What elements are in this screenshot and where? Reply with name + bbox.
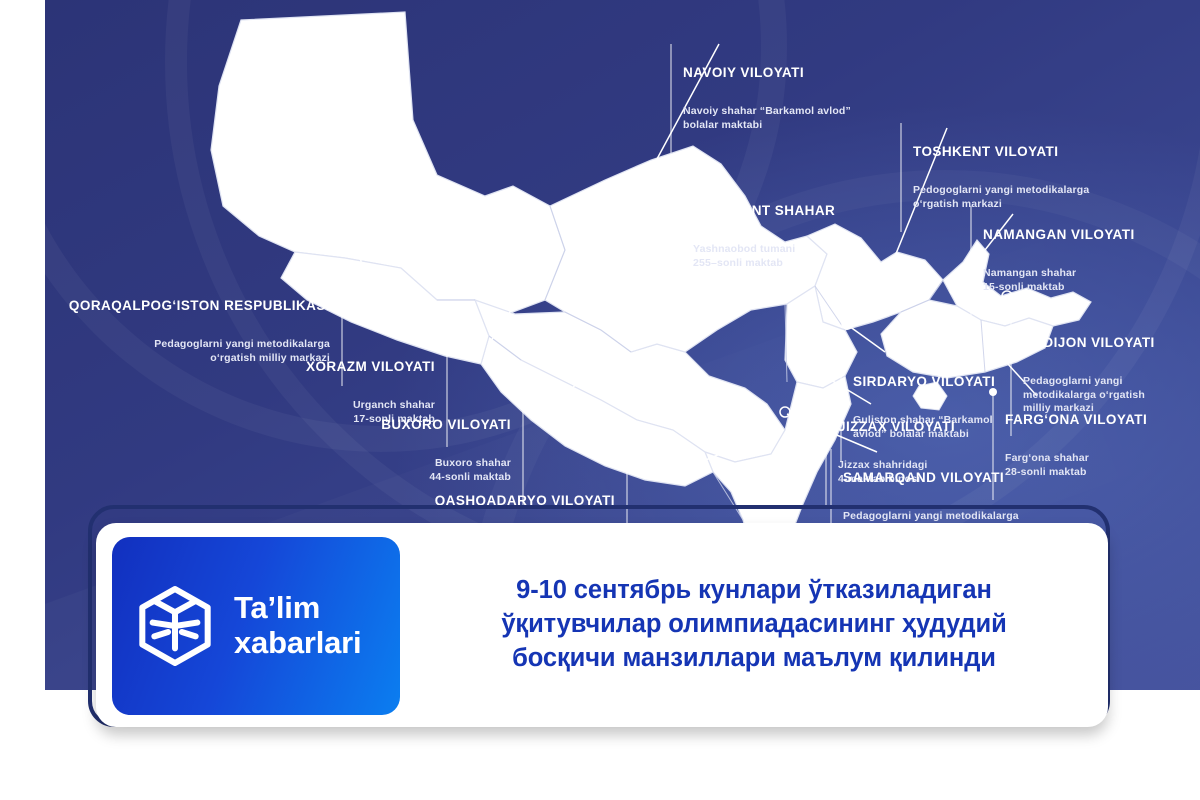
callout-subtitle: Navoiy shahar “Barkamol avlod” bolalar m… (683, 105, 851, 132)
callout-title: SAMARQAND VILOYATI (843, 469, 1019, 486)
callout-namangan[interactable]: NAMANGAN VILOYATI Namangan shahar 15-son… (970, 206, 1135, 315)
callout-toshkent-shahar[interactable]: TOSHKENT SHAHAR Yashnaobod tumani 255–so… (680, 182, 835, 291)
callout-subtitle: Namangan shahar 15-sonli maktab (983, 267, 1135, 294)
callout-title: XORAZM VILOYATI (290, 358, 435, 375)
cube-logo-icon (132, 583, 218, 669)
talim-xabarlari-logo[interactable]: Ta’lim xabarlari (112, 537, 400, 715)
callout-title: TOSHKENT SHAHAR (693, 202, 835, 219)
callout-title: ANDIJON VILOYATI (1023, 334, 1155, 351)
callout-title: NAMANGAN VILOYATI (983, 226, 1135, 243)
callout-title: NAVOIY VILOYATI (683, 64, 851, 81)
callout-title: QORAQALPOG‘ISTON RESPUBLIKASI (55, 297, 330, 314)
callout-title: BUXORO VILOYATI (363, 416, 511, 433)
callout-subtitle: Yashnaobod tumani 255–sonli maktab (693, 243, 835, 270)
poster-root: NAVOIY VILOYATI Navoiy shahar “Barkamol … (0, 0, 1200, 800)
callout-title: FARG‘ONA VILOYATI (1005, 411, 1147, 428)
logo-wordmark: Ta’lim xabarlari (234, 591, 361, 660)
callout-title: SIRDARYO VILOYATI (853, 373, 995, 390)
callout-subtitle: Farg‘ona shahar 28-sonli maktab (1005, 452, 1147, 479)
callout-navoiy[interactable]: NAVOIY VILOYATI Navoiy shahar “Barkamol … (670, 44, 851, 153)
callout-title: TOSHKENT VILOYATI (913, 143, 1089, 160)
headline-text: 9-10 сентябрь кунлари ўтказиладиган ўқит… (412, 550, 1096, 700)
callout-subtitle: Pedagoglarni yangi metodikalarga o‘rgati… (55, 338, 330, 365)
callout-title: JIZZAX VILOYATI (838, 418, 955, 435)
